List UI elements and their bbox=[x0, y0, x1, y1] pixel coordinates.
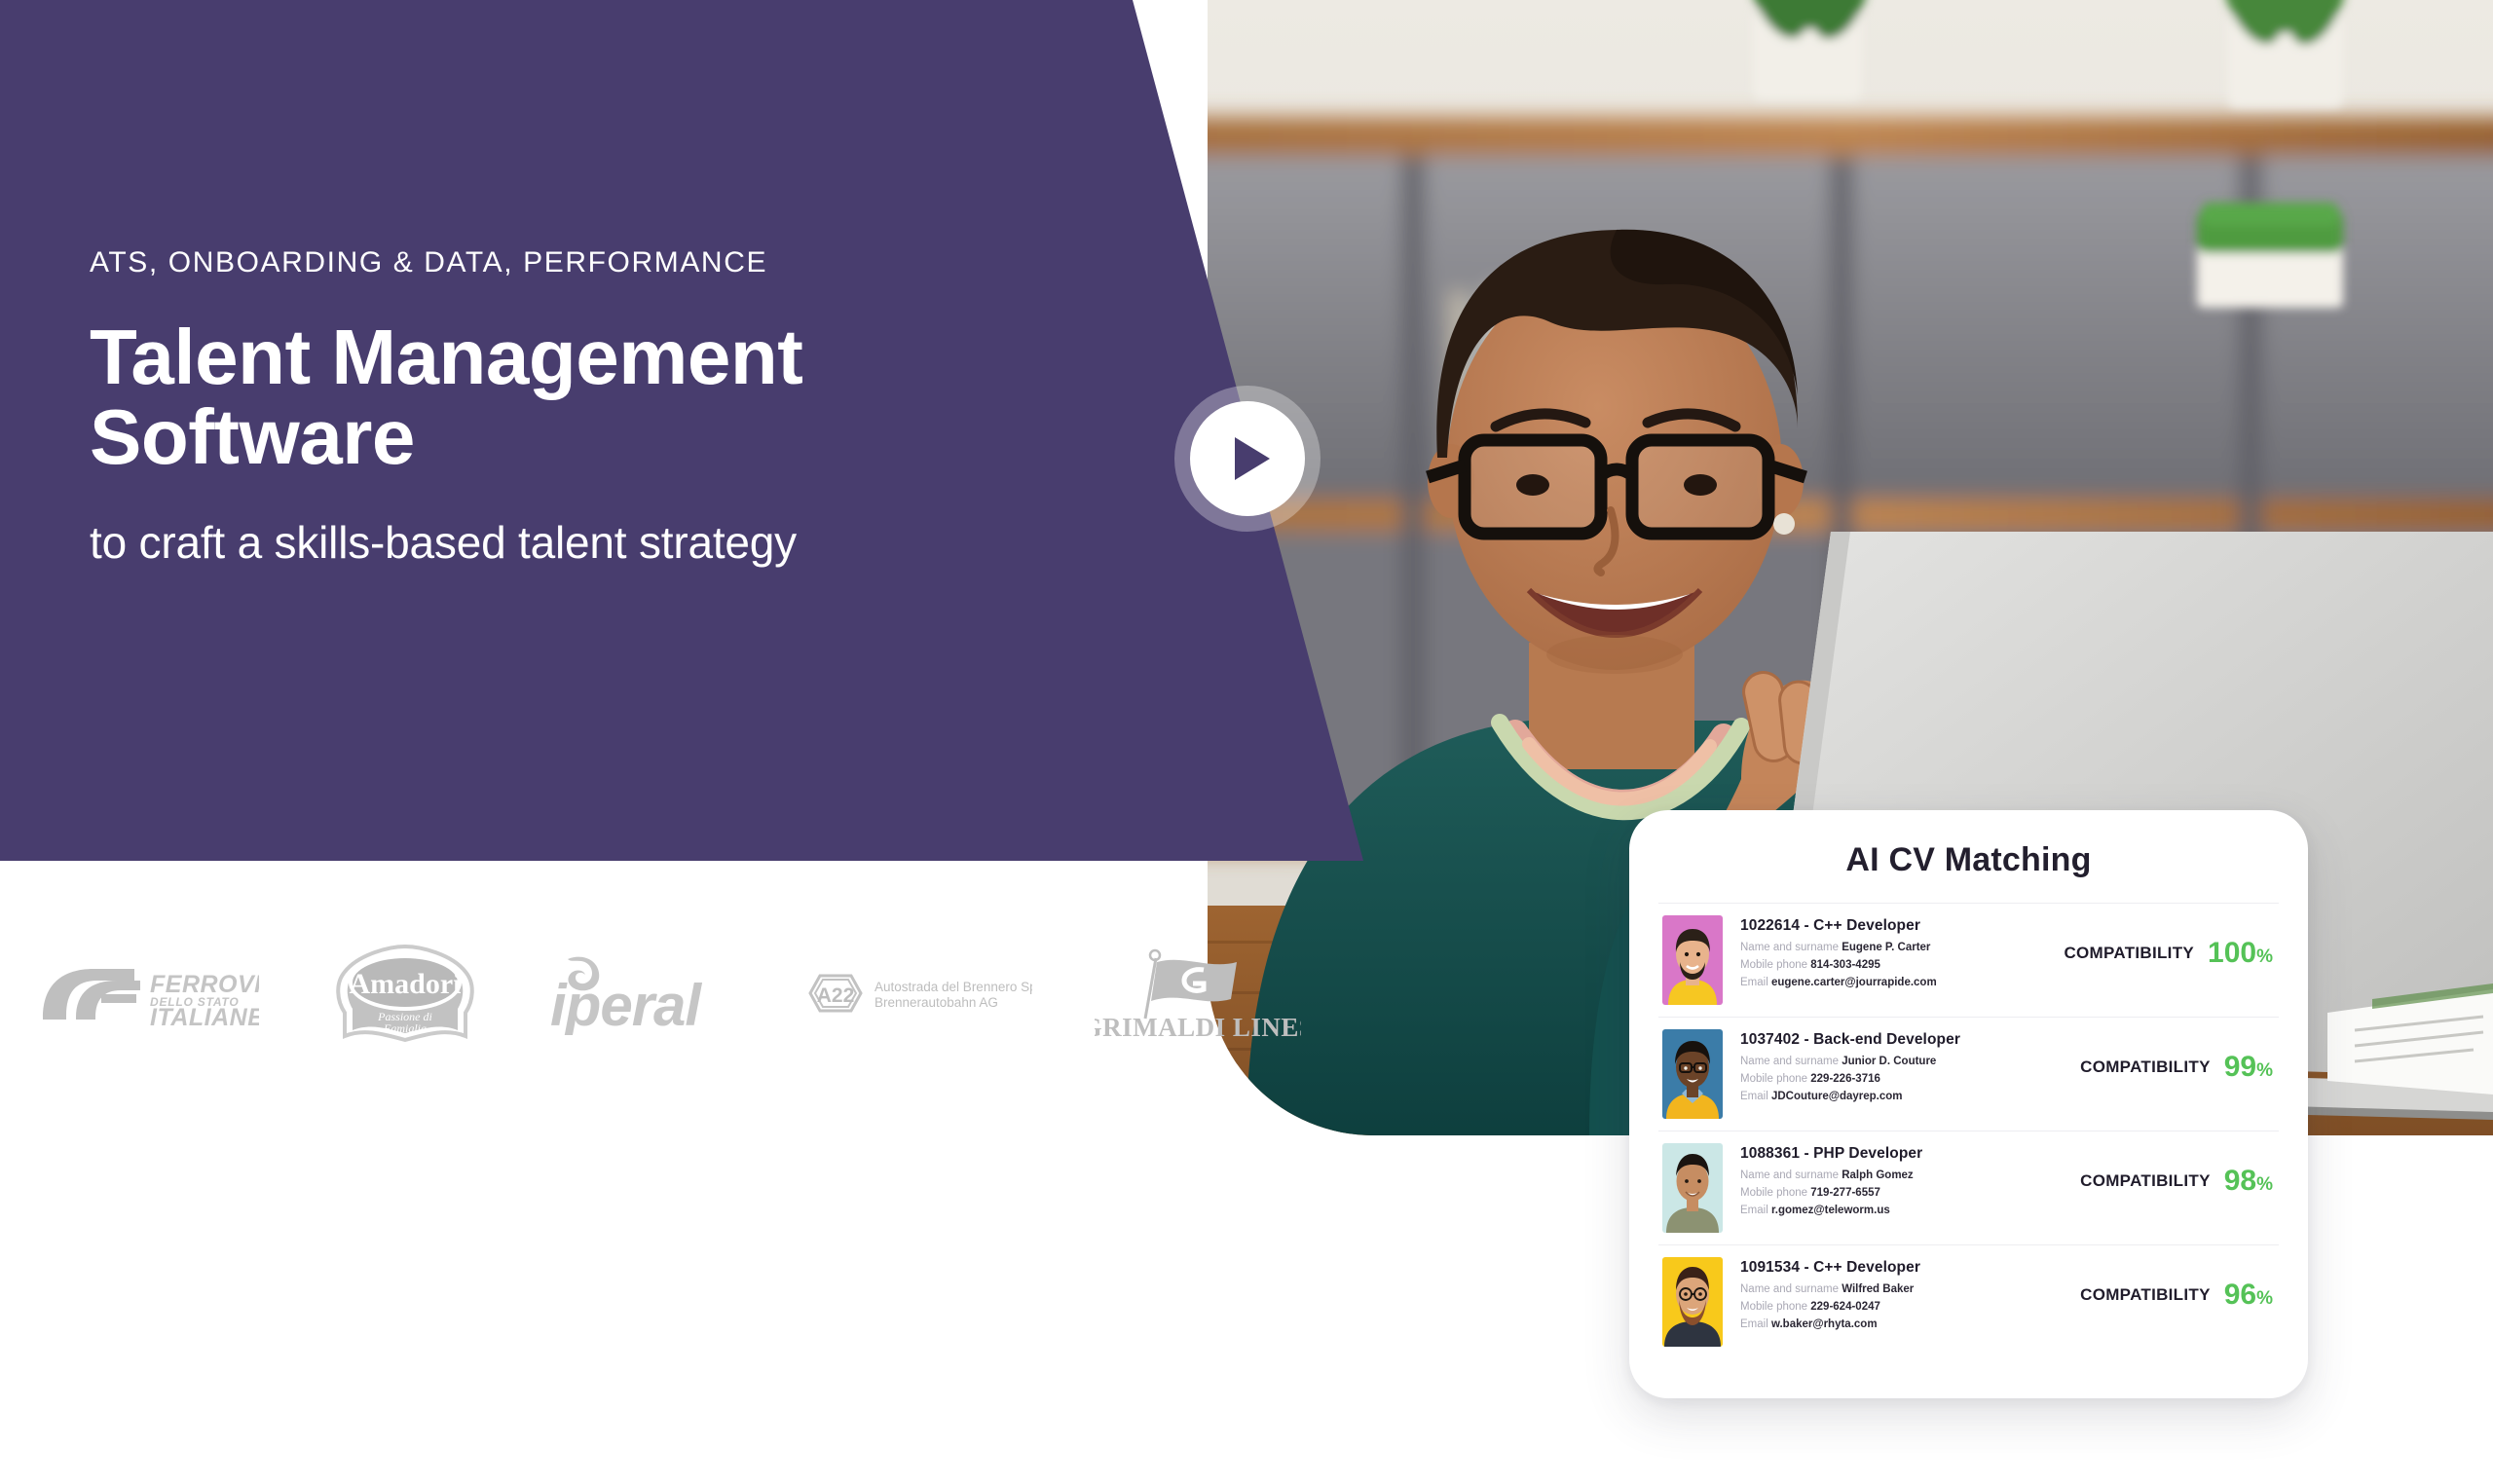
avatar bbox=[1662, 1257, 1723, 1347]
score-value: 96 bbox=[2224, 1279, 2256, 1311]
score-percent: % bbox=[2256, 946, 2273, 967]
candidate-heading: 1088361 - PHP Developer bbox=[1740, 1145, 2032, 1163]
candidate-info: 1037402 - Back-end Developer Name and su… bbox=[1740, 1029, 2032, 1105]
compatibility-score: 98% bbox=[2224, 1167, 2273, 1196]
candidate-name-line: Name and surname Junior D. Couture bbox=[1740, 1054, 2032, 1071]
compatibility-block: COMPATIBILITY 98% bbox=[2050, 1143, 2275, 1196]
logo-ferrovie-dello-stato-italiane[interactable]: FERROVIE DELLO STATO ITALIANE FERROVIE bbox=[0, 940, 292, 1047]
ai-cv-matching-card: AI CV Matching 1022614 - C++ Developer bbox=[1629, 810, 2308, 1398]
candidate-email-line: Email eugene.carter@jourrapide.com bbox=[1740, 975, 2032, 992]
compatibility-label: COMPATIBILITY bbox=[2080, 1057, 2211, 1077]
candidate-phone-line: Mobile phone 229-624-0247 bbox=[1740, 1299, 2032, 1317]
candidate-row[interactable]: 1091534 - C++ Developer Name and surname… bbox=[1658, 1244, 2279, 1358]
candidate-email-line: Email r.gomez@teleworm.us bbox=[1740, 1203, 2032, 1220]
score-percent: % bbox=[2256, 1288, 2273, 1309]
candidate-info: 1091534 - C++ Developer Name and surname… bbox=[1740, 1257, 2032, 1333]
value-phone: 229-226-3716 bbox=[1810, 1073, 1880, 1085]
candidate-row[interactable]: 1022614 - C++ Developer Name and surname… bbox=[1658, 903, 2279, 1017]
score-value: 99 bbox=[2224, 1051, 2256, 1083]
label-email: Email bbox=[1740, 1091, 1768, 1102]
value-name: Eugene P. Carter bbox=[1842, 942, 1930, 953]
value-phone: 814-303-4295 bbox=[1810, 959, 1880, 971]
avatar-photo-icon bbox=[1662, 1257, 1723, 1347]
logo-amadori[interactable]: Amadori Passione di Famiglia Amadori bbox=[292, 940, 516, 1047]
hero-subtitle: to craft a skills-based talent strategy bbox=[90, 517, 1122, 569]
candidate-email-line: Email w.baker@rhyta.com bbox=[1740, 1317, 2032, 1334]
play-icon bbox=[1235, 437, 1270, 480]
value-email: r.gomez@teleworm.us bbox=[1771, 1205, 1890, 1216]
svg-text:ITALIANE: ITALIANE bbox=[150, 1004, 259, 1031]
label-email: Email bbox=[1740, 1205, 1768, 1216]
candidate-info: 1088361 - PHP Developer Name and surname… bbox=[1740, 1143, 2032, 1219]
page-title: Talent Management Software bbox=[90, 317, 1122, 476]
ferrovie-logo-icon: FERROVIE DELLO STATO ITALIANE bbox=[33, 955, 259, 1031]
label-name: Name and surname bbox=[1740, 942, 1839, 953]
candidate-heading: 1091534 - C++ Developer bbox=[1740, 1259, 2032, 1277]
value-name: Ralph Gomez bbox=[1842, 1169, 1913, 1181]
candidate-heading: 1037402 - Back-end Developer bbox=[1740, 1031, 2032, 1049]
label-phone: Mobile phone bbox=[1740, 1187, 1807, 1199]
svg-text:Autostrada del Brennero SpA: Autostrada del Brennero SpA bbox=[874, 980, 1032, 994]
hero-copy-block: ATS, ONBOARDING & DATA, PERFORMANCE Tale… bbox=[90, 245, 1122, 569]
candidate-heading: 1022614 - C++ Developer bbox=[1740, 917, 2032, 935]
candidate-name-line: Name and surname Eugene P. Carter bbox=[1740, 940, 2032, 957]
value-name: Junior D. Couture bbox=[1842, 1056, 1936, 1067]
a22-logo-icon: A22 Autostrada del Brennero SpA Brennera… bbox=[799, 964, 1032, 1022]
value-phone: 229-624-0247 bbox=[1810, 1301, 1880, 1313]
hero-title-line1: Talent Management bbox=[90, 314, 802, 400]
compatibility-block: COMPATIBILITY 100% bbox=[2050, 915, 2275, 968]
candidate-email-line: Email JDCouture@dayrep.com bbox=[1740, 1089, 2032, 1106]
candidate-phone-line: Mobile phone 719-277-6557 bbox=[1740, 1185, 2032, 1203]
avatar bbox=[1662, 1143, 1723, 1233]
label-phone: Mobile phone bbox=[1740, 1301, 1807, 1313]
label-email: Email bbox=[1740, 1318, 1768, 1330]
label-name: Name and surname bbox=[1740, 1056, 1839, 1067]
compatibility-label: COMPATIBILITY bbox=[2080, 1171, 2211, 1191]
candidate-info: 1022614 - C++ Developer Name and surname… bbox=[1740, 915, 2032, 991]
svg-text:Amadori: Amadori bbox=[349, 968, 461, 1000]
logo-grimaldi-lines[interactable]: GRIMALDI LINES GRIMALDI LINES bbox=[1061, 940, 1334, 1047]
svg-text:A22: A22 bbox=[817, 984, 855, 1007]
svg-text:iperal: iperal bbox=[550, 973, 702, 1035]
client-logo-bar: FERROVIE DELLO STATO ITALIANE FERROVIE A… bbox=[0, 925, 1363, 1061]
avatar bbox=[1662, 1029, 1723, 1119]
svg-text:Famiglia: Famiglia bbox=[383, 1021, 427, 1035]
candidate-row[interactable]: 1037402 - Back-end Developer Name and su… bbox=[1658, 1017, 2279, 1131]
score-percent: % bbox=[2256, 1174, 2273, 1195]
logo-iperal[interactable]: iperal iperal bbox=[516, 940, 769, 1047]
play-video-button[interactable] bbox=[1174, 386, 1321, 532]
score-percent: % bbox=[2256, 1060, 2273, 1081]
candidate-name-line: Name and surname Ralph Gomez bbox=[1740, 1168, 2032, 1185]
compatibility-score: 100% bbox=[2208, 939, 2273, 968]
candidate-row[interactable]: 1088361 - PHP Developer Name and surname… bbox=[1658, 1131, 2279, 1244]
svg-text:Brennerautobahn AG: Brennerautobahn AG bbox=[874, 995, 998, 1010]
candidate-phone-line: Mobile phone 229-226-3716 bbox=[1740, 1071, 2032, 1089]
candidate-phone-line: Mobile phone 814-303-4295 bbox=[1740, 957, 2032, 975]
play-button-inner bbox=[1190, 401, 1305, 516]
grimaldi-lines-logo-icon: GRIMALDI LINES bbox=[1095, 946, 1301, 1040]
label-phone: Mobile phone bbox=[1740, 959, 1807, 971]
amadori-logo-icon: Amadori Passione di Famiglia bbox=[319, 941, 490, 1046]
value-name: Wilfred Baker bbox=[1842, 1283, 1914, 1295]
page-root: ATS, ONBOARDING & DATA, PERFORMANCE Tale… bbox=[0, 0, 2493, 1484]
candidate-name-line: Name and surname Wilfred Baker bbox=[1740, 1281, 2032, 1299]
value-email: w.baker@rhyta.com bbox=[1771, 1318, 1878, 1330]
score-value: 98 bbox=[2224, 1165, 2256, 1197]
logo-a22-autostrada-del-brennero[interactable]: A22 Autostrada del Brennero SpA Brennera… bbox=[769, 940, 1061, 1047]
label-name: Name and surname bbox=[1740, 1169, 1839, 1181]
compatibility-score: 96% bbox=[2224, 1280, 2273, 1310]
svg-text:FERROVIE: FERROVIE bbox=[150, 971, 259, 998]
avatar-photo-icon bbox=[1662, 1143, 1723, 1233]
label-email: Email bbox=[1740, 977, 1768, 988]
score-value: 100 bbox=[2208, 937, 2256, 969]
hero-eyebrow: ATS, ONBOARDING & DATA, PERFORMANCE bbox=[90, 245, 1122, 280]
cv-card-title: AI CV Matching bbox=[1658, 841, 2279, 879]
svg-text:GRIMALDI LINES: GRIMALDI LINES bbox=[1095, 1013, 1301, 1040]
value-phone: 719-277-6557 bbox=[1810, 1187, 1880, 1199]
compatibility-label: COMPATIBILITY bbox=[2080, 1285, 2211, 1305]
compatibility-label: COMPATIBILITY bbox=[2064, 944, 2194, 963]
label-phone: Mobile phone bbox=[1740, 1073, 1807, 1085]
avatar-photo-icon bbox=[1662, 915, 1723, 1005]
avatar bbox=[1662, 915, 1723, 1005]
compatibility-score: 99% bbox=[2224, 1053, 2273, 1082]
compatibility-block: COMPATIBILITY 96% bbox=[2050, 1257, 2275, 1310]
value-email: JDCouture@dayrep.com bbox=[1771, 1091, 1903, 1102]
value-email: eugene.carter@jourrapide.com bbox=[1771, 977, 1937, 988]
compatibility-block: COMPATIBILITY 99% bbox=[2050, 1029, 2275, 1082]
label-name: Name and surname bbox=[1740, 1283, 1839, 1295]
hero-title-line2: Software bbox=[90, 397, 1122, 477]
avatar-photo-icon bbox=[1662, 1029, 1723, 1119]
iperal-logo-icon: iperal bbox=[546, 951, 739, 1035]
